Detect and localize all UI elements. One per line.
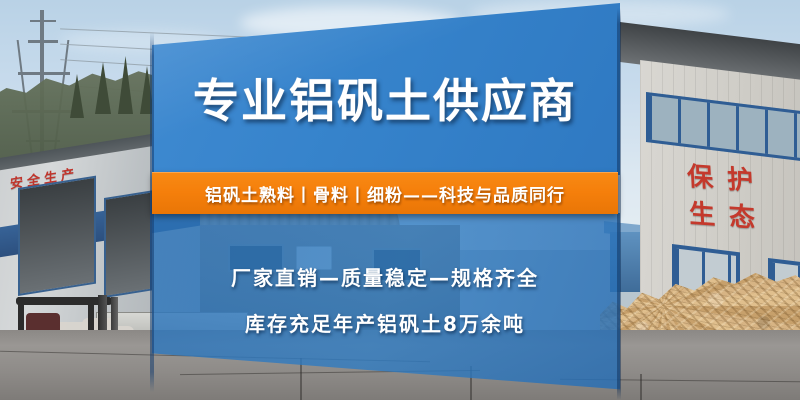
headline-title: 专业铝矾土供应商	[152, 78, 618, 124]
subline-two: 库存充足年产铝矾土8万余吨	[152, 308, 618, 337]
panel-lower-translucent	[152, 213, 620, 393]
ribbon-text: 铝矾土熟料丨骨料丨细粉——科技与品质同行	[205, 181, 565, 206]
blue-overlay-panel: 专业铝矾土供应商 铝矾土熟料丨骨料丨细粉——科技与品质同行 厂家直销—质量稳定—…	[0, 0, 800, 400]
subline-one: 厂家直销—质量稳定—规格齐全	[152, 262, 618, 291]
promotional-banner: 安全生产 保护生态	[0, 0, 800, 400]
orange-ribbon: 铝矾土熟料丨骨料丨细粉——科技与品质同行	[152, 172, 618, 214]
